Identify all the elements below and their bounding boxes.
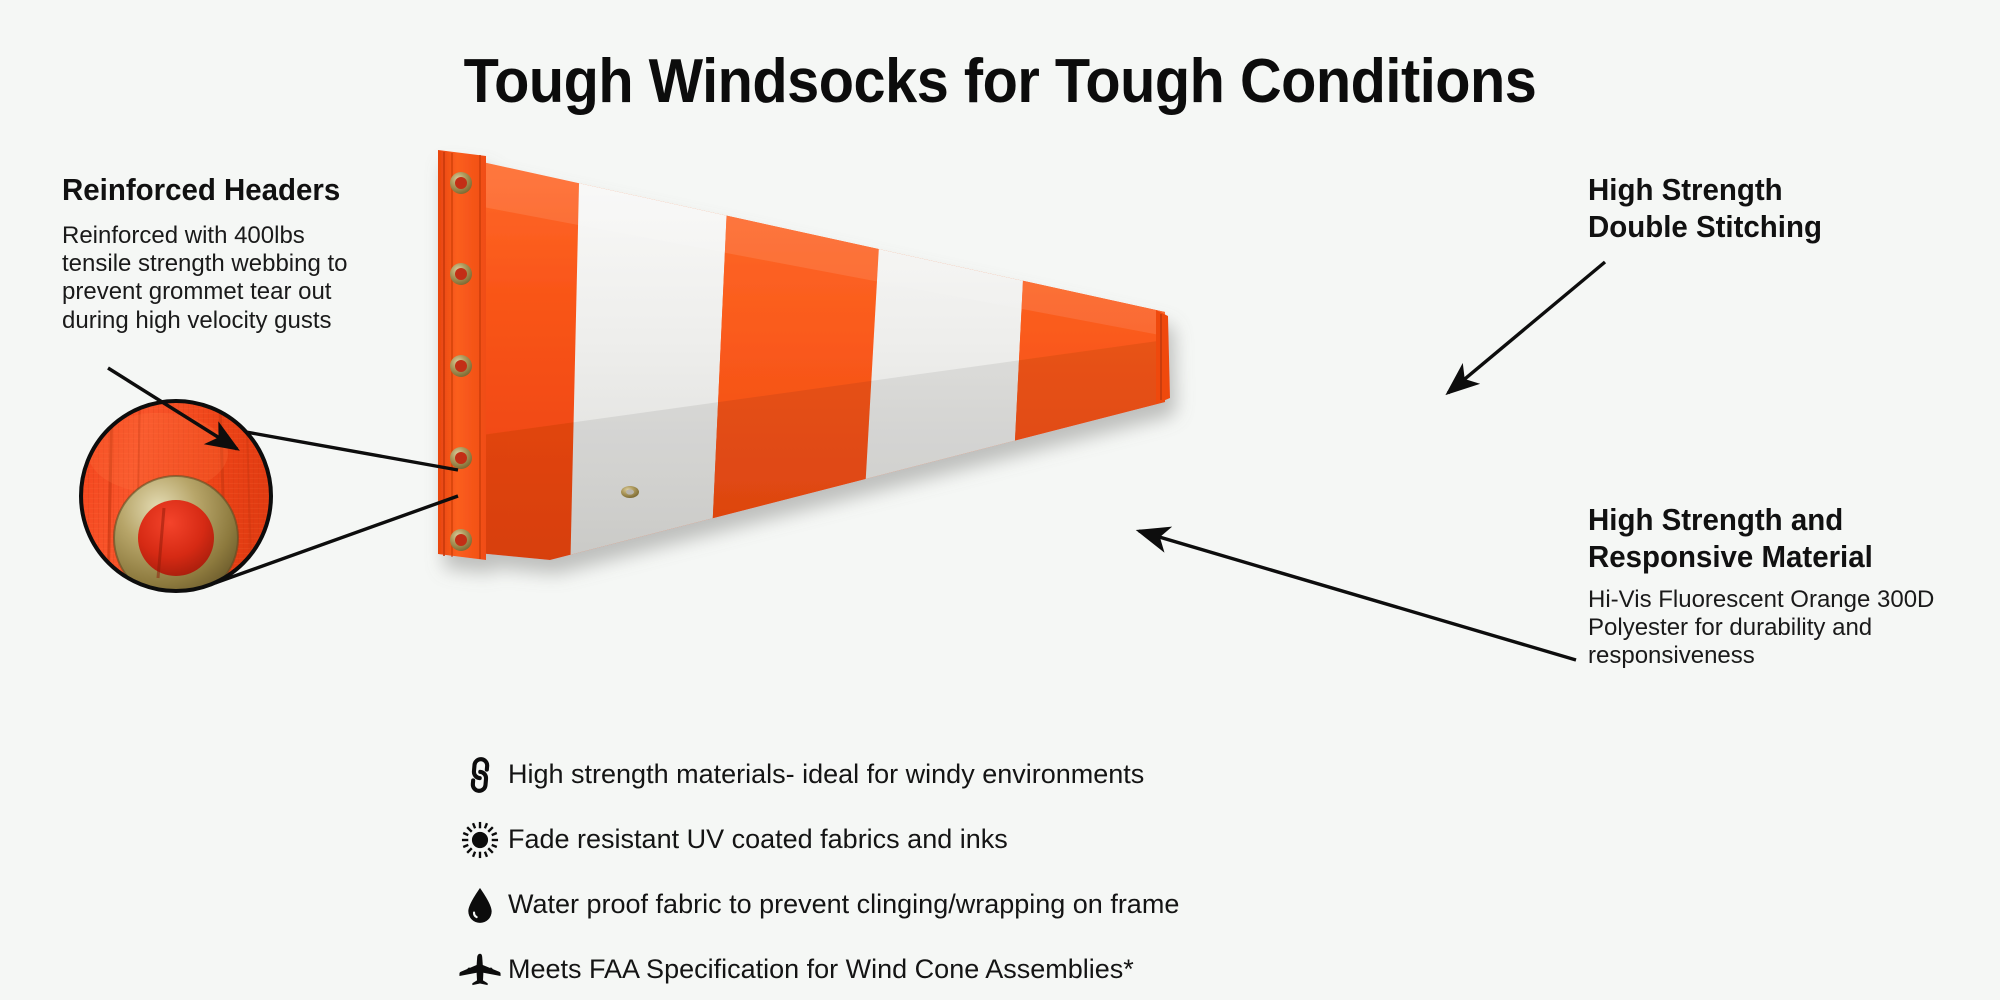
reinforced-headers-heading: Reinforced Headers xyxy=(62,172,340,209)
windsock-image xyxy=(430,140,1170,590)
feature-label: Meets FAA Specification for Wind Cone As… xyxy=(508,954,1134,985)
sun-icon xyxy=(452,821,508,859)
grommet-closeup xyxy=(78,398,274,594)
feature-label: High strength materials- ideal for windy… xyxy=(508,759,1144,790)
double-stitching-heading: High Strength Double Stitching xyxy=(1588,172,1822,245)
responsive-material-body: Hi-Vis Fluorescent Orange 300D Polyester… xyxy=(1588,586,1948,671)
feature-item: Fade resistant UV coated fabrics and ink… xyxy=(452,807,1152,872)
feature-item: Meets FAA Specification for Wind Cone As… xyxy=(452,937,1152,1000)
feature-label: Water proof fabric to prevent clinging/w… xyxy=(508,889,1179,920)
leader-double-stitching xyxy=(1448,262,1605,393)
reinforced-headers-body: Reinforced with 400lbs tensile strength … xyxy=(62,222,352,335)
page-title: Tough Windsocks for Tough Conditions xyxy=(70,46,1930,117)
responsive-material-heading: High Strength and Responsive Material xyxy=(1588,502,1873,575)
leader-responsive-material xyxy=(1139,531,1576,660)
infographic-page: Tough Windsocks for Tough Conditions xyxy=(0,0,2000,1000)
leader-closeup-tangent-top xyxy=(246,432,458,470)
feature-list: High strength materials- ideal for windy… xyxy=(452,742,1152,1000)
water-drop-icon xyxy=(452,886,508,924)
airplane-icon xyxy=(452,951,508,989)
feature-item: Water proof fabric to prevent clinging/w… xyxy=(452,872,1152,937)
feature-label: Fade resistant UV coated fabrics and ink… xyxy=(508,824,1008,855)
feature-item: High strength materials- ideal for windy… xyxy=(452,742,1152,807)
link-icon xyxy=(452,756,508,794)
